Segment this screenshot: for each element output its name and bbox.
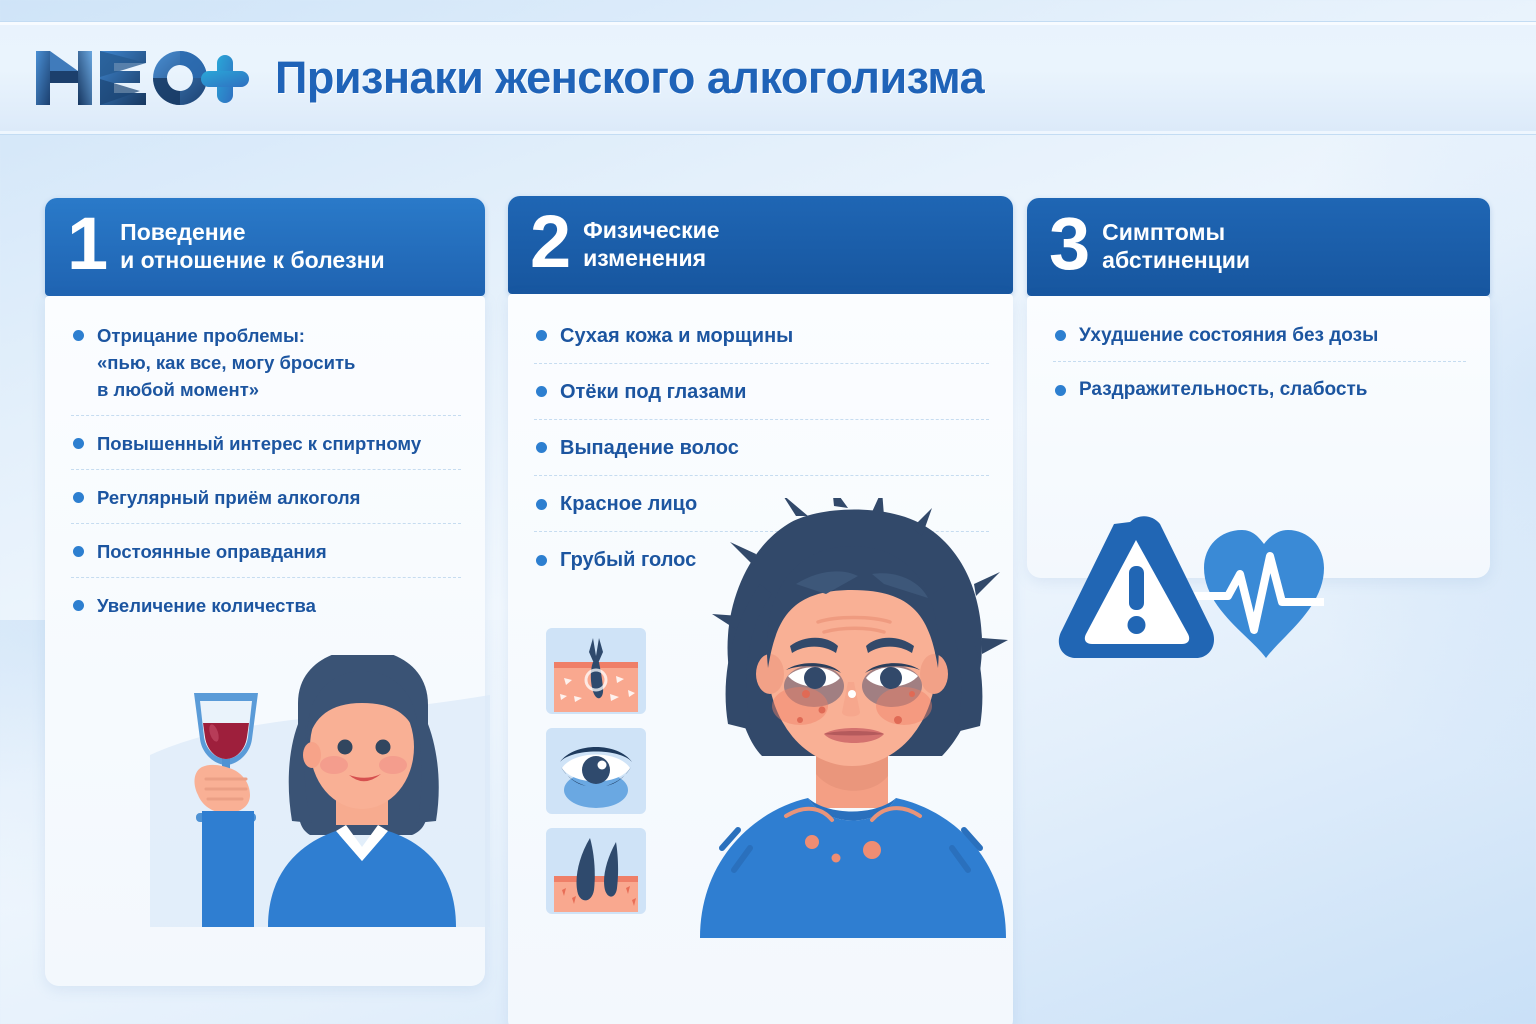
list-item-text: Увеличение количества — [97, 592, 461, 619]
list-item: Увеличение количества — [71, 592, 461, 623]
list-item-text: Отёки под глазами — [560, 378, 989, 407]
bullet-dot-icon — [536, 499, 547, 510]
bullet-dot-icon — [73, 492, 84, 503]
bullet-dot-icon — [536, 386, 547, 397]
list-item: Регулярный приём алкоголя — [71, 484, 461, 524]
list-item: Выпадение волос — [534, 434, 989, 476]
list-item: Грубый голос — [534, 546, 989, 579]
bullet-dot-icon — [536, 330, 547, 341]
bullet-dot-icon — [73, 330, 84, 341]
card-1-header: 1 Поведение и отношение к болезни — [45, 198, 485, 296]
card-3-number: 3 — [1049, 212, 1086, 280]
list-item-line1: Отрицание проблемы: — [97, 325, 305, 346]
list-item: Раздражительность, слабость — [1053, 376, 1466, 408]
card-1-title-line2: и отношение к болезни — [120, 246, 385, 274]
card-behavior: 1 Поведение и отношение к болезни Отрица… — [45, 198, 485, 986]
list-item: Отрицание проблемы: «пью, как все, могу … — [71, 322, 461, 416]
card-2-header: 2 Физические изменения — [508, 196, 1013, 294]
list-item-text: Раздражительность, слабость — [1079, 376, 1466, 404]
page-title: Признаки женского алкоголизма — [275, 52, 984, 104]
list-item: Постоянные оправдания — [71, 538, 461, 578]
neo-plus-logo-icon — [34, 47, 249, 109]
page-header: Признаки женского алкоголизма — [0, 22, 1536, 134]
card-3-title-line1: Симптомы — [1102, 219, 1225, 245]
list-item-text: Повышенный интерес к спиртному — [97, 430, 461, 457]
list-item: Отёки под глазами — [534, 378, 989, 420]
list-item-text: Грубый голос — [560, 546, 989, 575]
bullet-dot-icon — [536, 442, 547, 453]
list-item-text: Красное лицо — [560, 490, 989, 519]
card-3-header: 3 Симптомы абстиненции — [1027, 198, 1490, 296]
card-3-title-line2: абстиненции — [1102, 246, 1250, 274]
list-item-text: Ухудшение состояния без дозы — [1079, 322, 1466, 350]
card-1-title-line1: Поведение — [120, 219, 245, 245]
bullet-dot-icon — [1055, 330, 1066, 341]
card-physical-changes: 2 Физические изменения Сухая кожа и морщ… — [508, 196, 1013, 1024]
list-item-text: Отрицание проблемы: «пью, как все, могу … — [97, 322, 461, 403]
list-item: Повышенный интерес к спиртному — [71, 430, 461, 470]
list-item-text: Постоянные оправдания — [97, 538, 461, 565]
list-item-text: Сухая кожа и морщины — [560, 322, 989, 351]
bullet-dot-icon — [73, 546, 84, 557]
list-item-line3: в любой момент» — [97, 376, 461, 403]
card-2-title-line2: изменения — [583, 244, 719, 272]
list-item: Ухудшение состояния без дозы — [1053, 322, 1466, 363]
card-2-title-line1: Физические — [583, 217, 719, 243]
bullet-dot-icon — [536, 555, 547, 566]
card-2-number: 2 — [530, 210, 567, 278]
list-item-text: Регулярный приём алкоголя — [97, 484, 461, 511]
bullet-dot-icon — [73, 600, 84, 611]
card-withdrawal-symptoms: 3 Симптомы абстиненции Ухудшение состоян… — [1027, 198, 1490, 578]
list-item-line2: «пью, как все, могу бросить — [97, 349, 461, 376]
card-1-list: Отрицание проблемы: «пью, как все, могу … — [45, 296, 485, 623]
card-3-title: Симптомы абстиненции — [1102, 218, 1250, 274]
list-item-text: Выпадение волос — [560, 434, 989, 463]
card-2-body: Сухая кожа и морщины Отёки под глазами В… — [508, 294, 1013, 1024]
list-item: Сухая кожа и морщины — [534, 322, 989, 364]
card-2-list: Сухая кожа и морщины Отёки под глазами В… — [508, 294, 1013, 580]
card-1-body: Отрицание проблемы: «пью, как все, могу … — [45, 296, 485, 986]
list-item: Красное лицо — [534, 490, 989, 532]
bullet-dot-icon — [1055, 385, 1066, 396]
bullet-dot-icon — [73, 438, 84, 449]
card-1-title: Поведение и отношение к болезни — [120, 218, 385, 274]
neo-plus-logo — [34, 47, 249, 109]
card-3-body: Ухудшение состояния без дозы Раздражител… — [1027, 296, 1490, 578]
card-1-number: 1 — [67, 212, 104, 280]
card-3-list: Ухудшение состояния без дозы Раздражител… — [1027, 296, 1490, 408]
card-2-title: Физические изменения — [583, 216, 719, 272]
